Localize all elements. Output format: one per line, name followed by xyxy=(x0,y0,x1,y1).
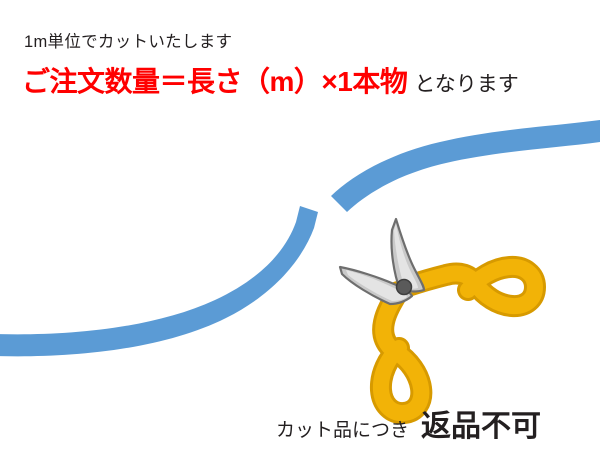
footer-emphasis: 返品不可 xyxy=(421,410,541,443)
footer-notice: カット品につき返品不可 xyxy=(276,412,541,442)
footer-prefix: カット品につき xyxy=(276,420,409,441)
scissors-pivot-icon xyxy=(397,280,412,295)
scissors xyxy=(340,219,535,413)
blue-cord-left-segment xyxy=(0,206,318,356)
scissors-lower-handle-fill xyxy=(381,292,421,413)
illustration-canvas: 1m単位でカットいたします ご注文数量＝長さ（m）×1本物となります カット品に… xyxy=(0,0,600,466)
headline-line-2: ご注文数量＝長さ（m）×1本物となります xyxy=(22,68,519,96)
headline-emphasis: ご注文数量＝長さ（m）×1本物 xyxy=(22,66,407,97)
headline-line-1: 1m単位でカットいたします xyxy=(24,28,232,52)
blue-cord-right-segment xyxy=(331,120,600,212)
headline-tail: となります xyxy=(414,73,518,96)
